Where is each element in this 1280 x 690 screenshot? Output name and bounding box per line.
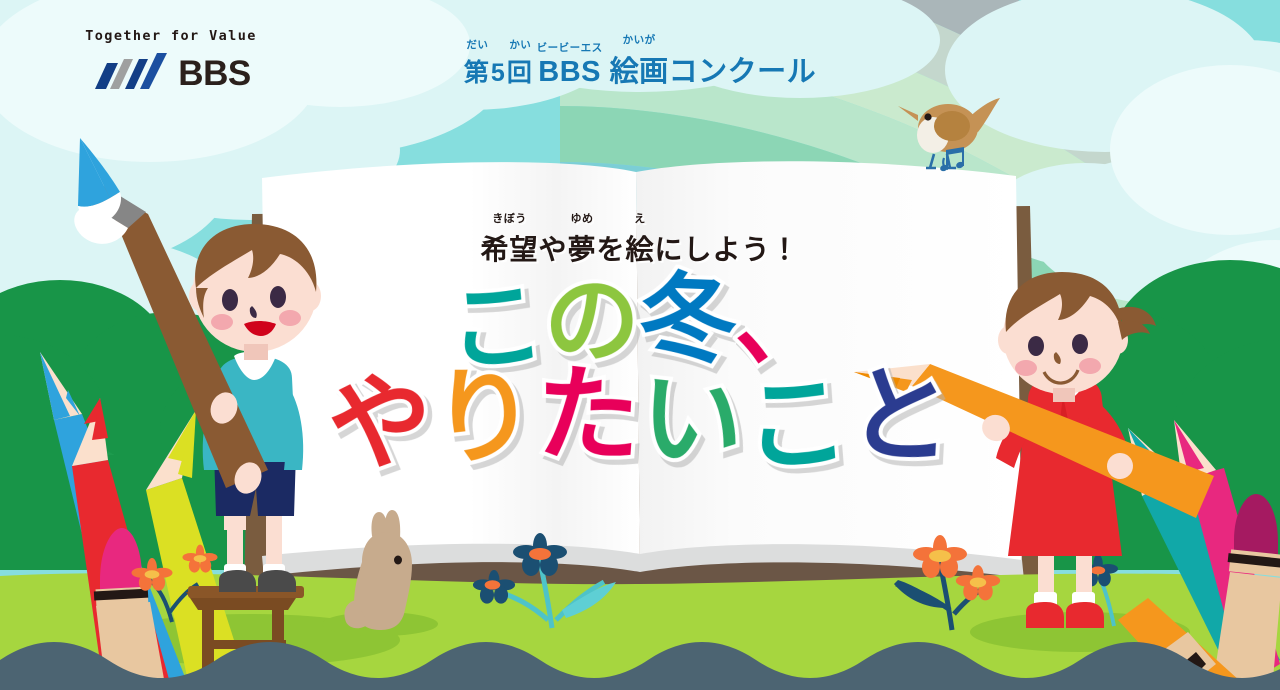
- bbs-slash-mark-icon: [91, 53, 169, 93]
- scene-illustration: [0, 0, 1280, 690]
- boy-eye-left: [222, 289, 238, 311]
- girl-shoe-left: [1026, 602, 1064, 628]
- boy-shoe-right: [258, 570, 296, 592]
- boy-eye-right: [270, 286, 286, 308]
- poster-canvas: Together for Value BBS だい第5かい回 ビービーエスBBS…: [0, 0, 1280, 690]
- girl-eye-left: [1028, 336, 1044, 356]
- brand-logo[interactable]: Together for Value BBS: [56, 28, 286, 93]
- book-page-right: [636, 161, 1022, 576]
- brand-wordmark: BBS: [178, 56, 250, 91]
- brand-tagline: Together for Value: [56, 28, 286, 44]
- book-page-left: [262, 162, 640, 572]
- boy-leg-right: [266, 512, 282, 572]
- girl-eye-right: [1072, 334, 1088, 354]
- boy-shoe-left: [219, 570, 256, 592]
- girl-shoe-right: [1066, 602, 1104, 628]
